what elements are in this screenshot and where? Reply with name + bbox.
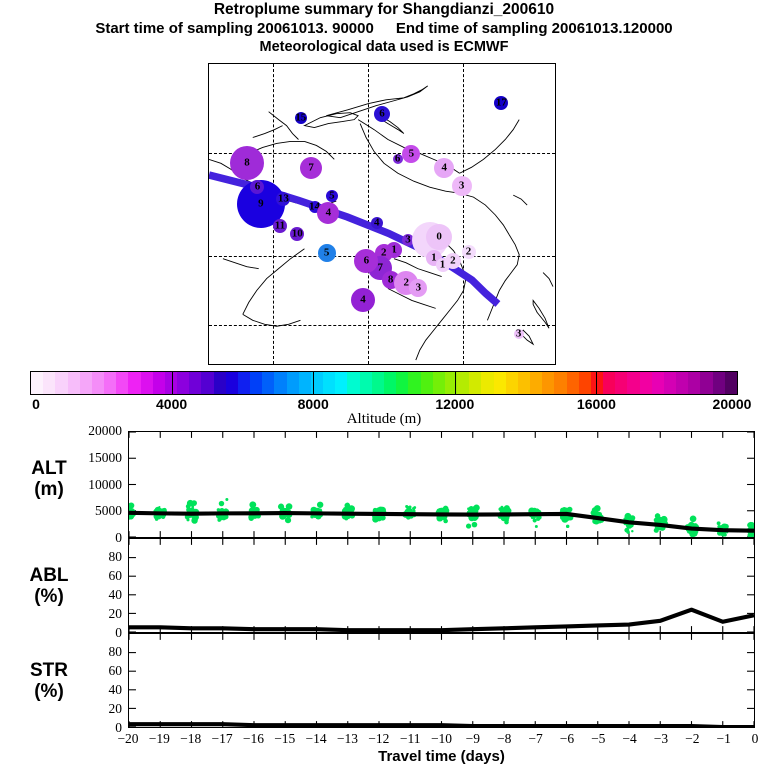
colorbar-divider — [313, 371, 314, 395]
y-tick-label: 0 — [62, 530, 122, 546]
x-tick-label: −16 — [243, 731, 264, 747]
y-tick-label: 60 — [62, 568, 122, 584]
colorbar-band-5 — [92, 372, 104, 394]
colorbar-tick-4000: 4000 — [156, 396, 187, 412]
colorbar-tick-12000: 12000 — [435, 396, 474, 412]
colorbar-band-50 — [640, 372, 652, 394]
colorbar-band-38 — [494, 372, 506, 394]
particle-scatter-point — [372, 516, 379, 522]
colorbar-band-18 — [250, 372, 262, 394]
x-axis-title: Travel time (days) — [128, 748, 755, 765]
colorbar-band-32 — [421, 372, 433, 394]
abl-plot — [129, 539, 754, 632]
plume-age-label: 7 — [378, 263, 384, 274]
particle-scatter-point — [319, 508, 322, 511]
x-tick-label: −9 — [466, 731, 480, 747]
plume-age-label: 8 — [244, 158, 250, 169]
plume-age-label: 0 — [436, 231, 442, 242]
colorbar-band-31 — [408, 372, 420, 394]
header-block: Retroplume summary for Shangdianzi_20061… — [0, 0, 768, 56]
y-tick-label: 10000 — [62, 477, 122, 493]
colorbar-band-13 — [189, 372, 201, 394]
colorbar-band-4 — [80, 372, 92, 394]
particle-scatter-point — [566, 525, 569, 528]
colorbar-band-27 — [360, 372, 372, 394]
particle-scatter-point — [631, 530, 633, 532]
end-time-label: End time of sampling 20061013.120000 — [396, 19, 673, 38]
particle-scatter-point — [690, 516, 695, 521]
str-timeseries-panel[interactable] — [128, 633, 755, 728]
str-plot — [129, 634, 754, 727]
colorbar-band-19 — [262, 372, 274, 394]
colorbar-band-3 — [68, 372, 80, 394]
plume-age-label: 4 — [326, 207, 332, 218]
plume-age-label: 9 — [258, 198, 264, 209]
plume-age-label: 7 — [308, 162, 314, 173]
colorbar-band-36 — [469, 372, 481, 394]
colorbar-band-6 — [104, 372, 116, 394]
colorbar-band-22 — [299, 372, 311, 394]
particle-scatter-point — [285, 517, 291, 523]
particle-scatter-point — [466, 524, 471, 529]
colorbar-band-33 — [433, 372, 445, 394]
colorbar-band-17 — [238, 372, 250, 394]
colorbar-divider — [172, 371, 173, 395]
sampling-time-row: Start time of sampling 20061013. 90000 E… — [0, 19, 768, 38]
particle-scatter-point — [186, 518, 189, 521]
colorbar-band-42 — [542, 372, 554, 394]
x-tick-label: −10 — [431, 731, 452, 747]
colorbar-band-56 — [713, 372, 725, 394]
y-tick-label: 20 — [62, 701, 122, 717]
colorbar-band-52 — [664, 372, 676, 394]
particle-scatter-point — [191, 500, 197, 506]
colorbar-tick-20000: 20000 — [713, 396, 752, 412]
altitude-timeseries-panel[interactable] — [128, 431, 755, 538]
start-time-label: Start time of sampling 20061013. 90000 — [95, 19, 373, 38]
colorbar-band-28 — [372, 372, 384, 394]
colorbar-divider — [596, 371, 597, 395]
plume-age-label: 4 — [360, 294, 366, 305]
altitude-colorbar[interactable] — [30, 371, 738, 395]
retroplume-map[interactable]: 8996131110147155456654317431276842300112… — [208, 63, 556, 365]
plume-age-label: 6 — [255, 182, 261, 193]
plume-age-label: 6 — [379, 108, 385, 119]
colorbar-band-49 — [627, 372, 639, 394]
colorbar-band-16 — [226, 372, 238, 394]
colorbar-band-35 — [457, 372, 469, 394]
x-tick-label: −13 — [337, 731, 358, 747]
colorbar-band-44 — [567, 372, 579, 394]
particle-scatter-point — [310, 515, 314, 519]
particle-scatter-point — [629, 515, 633, 519]
colorbar-band-8 — [128, 372, 140, 394]
y-tick-label: 0 — [62, 625, 122, 641]
x-tick-label: −5 — [591, 731, 605, 747]
colorbar-band-2 — [55, 372, 67, 394]
x-tick-label: −17 — [211, 731, 232, 747]
x-tick-label: −12 — [368, 731, 389, 747]
particle-scatter-point — [217, 508, 221, 512]
particle-scatter-point — [472, 522, 478, 528]
colorbar-band-47 — [603, 372, 615, 394]
colorbar-tick-8000: 8000 — [298, 396, 329, 412]
colorbar-gradient — [30, 371, 738, 395]
colorbar-band-55 — [700, 372, 712, 394]
particle-scatter-point — [317, 502, 323, 508]
colorbar-band-14 — [201, 372, 213, 394]
particle-scatter-point — [219, 501, 224, 506]
plume-age-label: 8 — [388, 275, 394, 286]
particle-scatter-point — [225, 498, 228, 501]
x-tick-label: −2 — [685, 731, 699, 747]
colorbar-band-1 — [43, 372, 55, 394]
particle-scatter-point — [720, 532, 723, 535]
plume-age-label: 6 — [364, 255, 370, 266]
colorbar-band-15 — [214, 372, 226, 394]
colorbar-band-0 — [31, 372, 43, 394]
colorbar-tick-0: 0 — [32, 396, 40, 412]
colorbar-band-12 — [177, 372, 189, 394]
y-tick-label: 80 — [62, 549, 122, 565]
x-tick-label: −15 — [274, 731, 295, 747]
particle-scatter-point — [504, 505, 510, 511]
y-tick-label: 5000 — [62, 503, 122, 519]
plume-age-label: 2 — [450, 255, 456, 266]
colorbar-band-21 — [287, 372, 299, 394]
particle-scatter-point — [592, 507, 599, 514]
particle-scatter-point — [654, 528, 659, 533]
colorbar-band-30 — [396, 372, 408, 394]
colorbar-band-20 — [274, 372, 286, 394]
plume-age-label: 4 — [374, 218, 380, 229]
x-tick-label: −19 — [149, 731, 170, 747]
particle-scatter-point — [567, 507, 573, 512]
x-tick-label: −6 — [560, 731, 574, 747]
particle-scatter-point — [412, 507, 415, 510]
y-tick-label: 40 — [62, 587, 122, 603]
y-tick-label: 60 — [62, 663, 122, 679]
particle-scatter-point — [504, 520, 509, 524]
colorbar-band-45 — [579, 372, 591, 394]
y-tick-label: 20000 — [62, 423, 122, 439]
x-tick-label: −11 — [400, 731, 421, 747]
colorbar-band-24 — [323, 372, 335, 394]
altitude-plot — [129, 432, 754, 537]
particle-scatter-point — [747, 522, 753, 527]
particle-scatter-point — [656, 517, 663, 524]
colorbar-band-43 — [554, 372, 566, 394]
colorbar-band-57 — [725, 372, 737, 394]
colorbar-band-53 — [676, 372, 688, 394]
plume-age-label: 4 — [442, 162, 448, 173]
x-tick-label: −14 — [306, 731, 327, 747]
plume-age-label: 3 — [516, 329, 522, 340]
colorbar-band-48 — [615, 372, 627, 394]
x-tick-label: −18 — [180, 731, 201, 747]
y-tick-label: 80 — [62, 644, 122, 660]
particle-scatter-point — [535, 525, 538, 528]
colorbar-band-29 — [384, 372, 396, 394]
plume-age-label: 15 — [295, 113, 306, 124]
abl-timeseries-panel[interactable] — [128, 538, 755, 633]
particle-scatter-point — [624, 528, 629, 533]
colorbar-band-9 — [141, 372, 153, 394]
y-tick-label: 15000 — [62, 450, 122, 466]
y-tick-label: 0 — [62, 720, 122, 736]
plume-age-label: 3 — [405, 234, 411, 245]
x-tick-label: 0 — [752, 731, 759, 747]
colorbar-band-54 — [688, 372, 700, 394]
particle-scatter-point — [249, 501, 256, 508]
x-tick-label: −20 — [117, 731, 138, 747]
plume-age-label: 10 — [292, 228, 303, 239]
plume-age-label: 13 — [278, 194, 289, 205]
x-tick-label: −7 — [528, 731, 542, 747]
colorbar-band-37 — [481, 372, 493, 394]
plume-age-label: 2 — [403, 278, 409, 289]
plume-age-label: 2 — [466, 246, 472, 257]
plume-age-label: 6 — [395, 153, 401, 164]
plume-age-label: 11 — [275, 221, 285, 232]
met-data-label: Meteorological data used is ECMWF — [0, 38, 768, 56]
colorbar-band-40 — [518, 372, 530, 394]
colorbar-band-10 — [153, 372, 165, 394]
y-tick-label: 20 — [62, 606, 122, 622]
plume-age-label: 5 — [324, 248, 330, 259]
particle-scatter-point — [155, 518, 158, 521]
page-title: Retroplume summary for Shangdianzi_20061… — [0, 0, 768, 19]
particle-scatter-point — [286, 503, 293, 510]
x-tick-label: −1 — [716, 731, 730, 747]
colorbar-band-26 — [347, 372, 359, 394]
plume-age-label: 5 — [329, 191, 335, 202]
colorbar-band-39 — [506, 372, 518, 394]
y-tick-label: 40 — [62, 682, 122, 698]
plume-age-label: 17 — [496, 98, 507, 109]
plume-age-label: 3 — [459, 180, 465, 191]
colorbar-tick-16000: 16000 — [577, 396, 616, 412]
particle-scatter-point — [717, 521, 721, 525]
plume-age-label: 5 — [409, 149, 415, 160]
x-tick-label: −3 — [654, 731, 668, 747]
plume-age-label: 3 — [416, 282, 422, 293]
colorbar-band-51 — [652, 372, 664, 394]
colorbar-band-25 — [335, 372, 347, 394]
particle-scatter-point — [346, 503, 350, 507]
colorbar-band-7 — [116, 372, 128, 394]
colorbar-band-41 — [530, 372, 542, 394]
colorbar-divider — [455, 371, 456, 395]
x-tick-label: −4 — [622, 731, 636, 747]
x-tick-label: −8 — [497, 731, 511, 747]
